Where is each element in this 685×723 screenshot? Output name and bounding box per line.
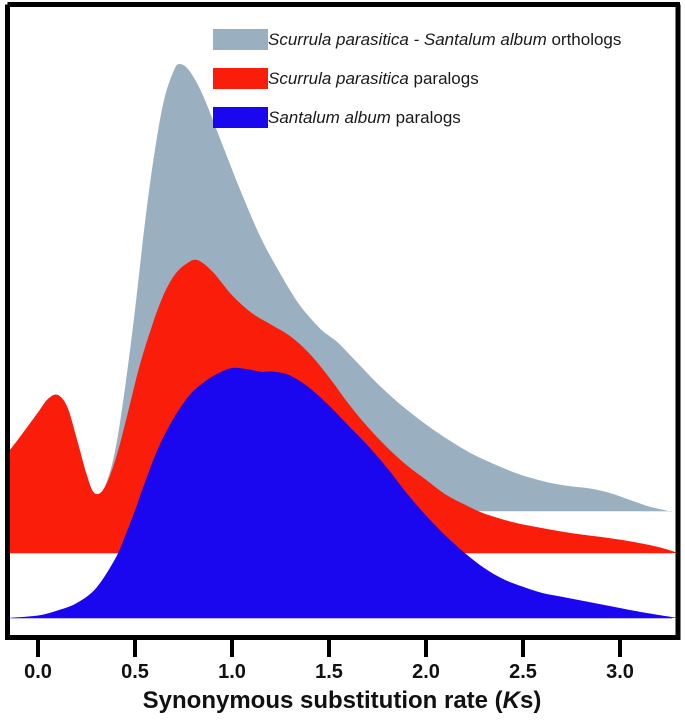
legend-swatch: [213, 68, 268, 89]
x-axis-tick-labels-group: 0.00.51.01.52.02.53.0: [24, 661, 634, 683]
x-axis-tick-label: 2.0: [412, 661, 440, 683]
x-axis-tick-label: 0.0: [24, 661, 52, 683]
x-axis-tick-label: 3.0: [606, 661, 634, 683]
x-axis-tick-label: 1.5: [315, 661, 343, 683]
x-axis-tick-label: 1.0: [218, 661, 246, 683]
legend-swatch: [213, 29, 268, 50]
legend-label: Santalum album paralogs: [268, 108, 461, 127]
x-axis-title: Synonymous substitution rate (Ks): [143, 687, 542, 714]
ks-distribution-figure: 0.00.51.01.52.02.53.0 Synonymous substit…: [0, 0, 685, 723]
legend-label: Scurrula parasitica paralogs: [268, 69, 479, 88]
ks-density-plot: 0.00.51.01.52.02.53.0 Synonymous substit…: [0, 0, 685, 723]
legend-swatch: [213, 107, 268, 128]
legend-label: Scurrula parasitica - Santalum album ort…: [268, 30, 621, 49]
x-axis-tick-label: 2.5: [509, 661, 537, 683]
x-axis-ticks-group: [38, 640, 620, 657]
x-axis-tick-label: 0.5: [121, 661, 149, 683]
